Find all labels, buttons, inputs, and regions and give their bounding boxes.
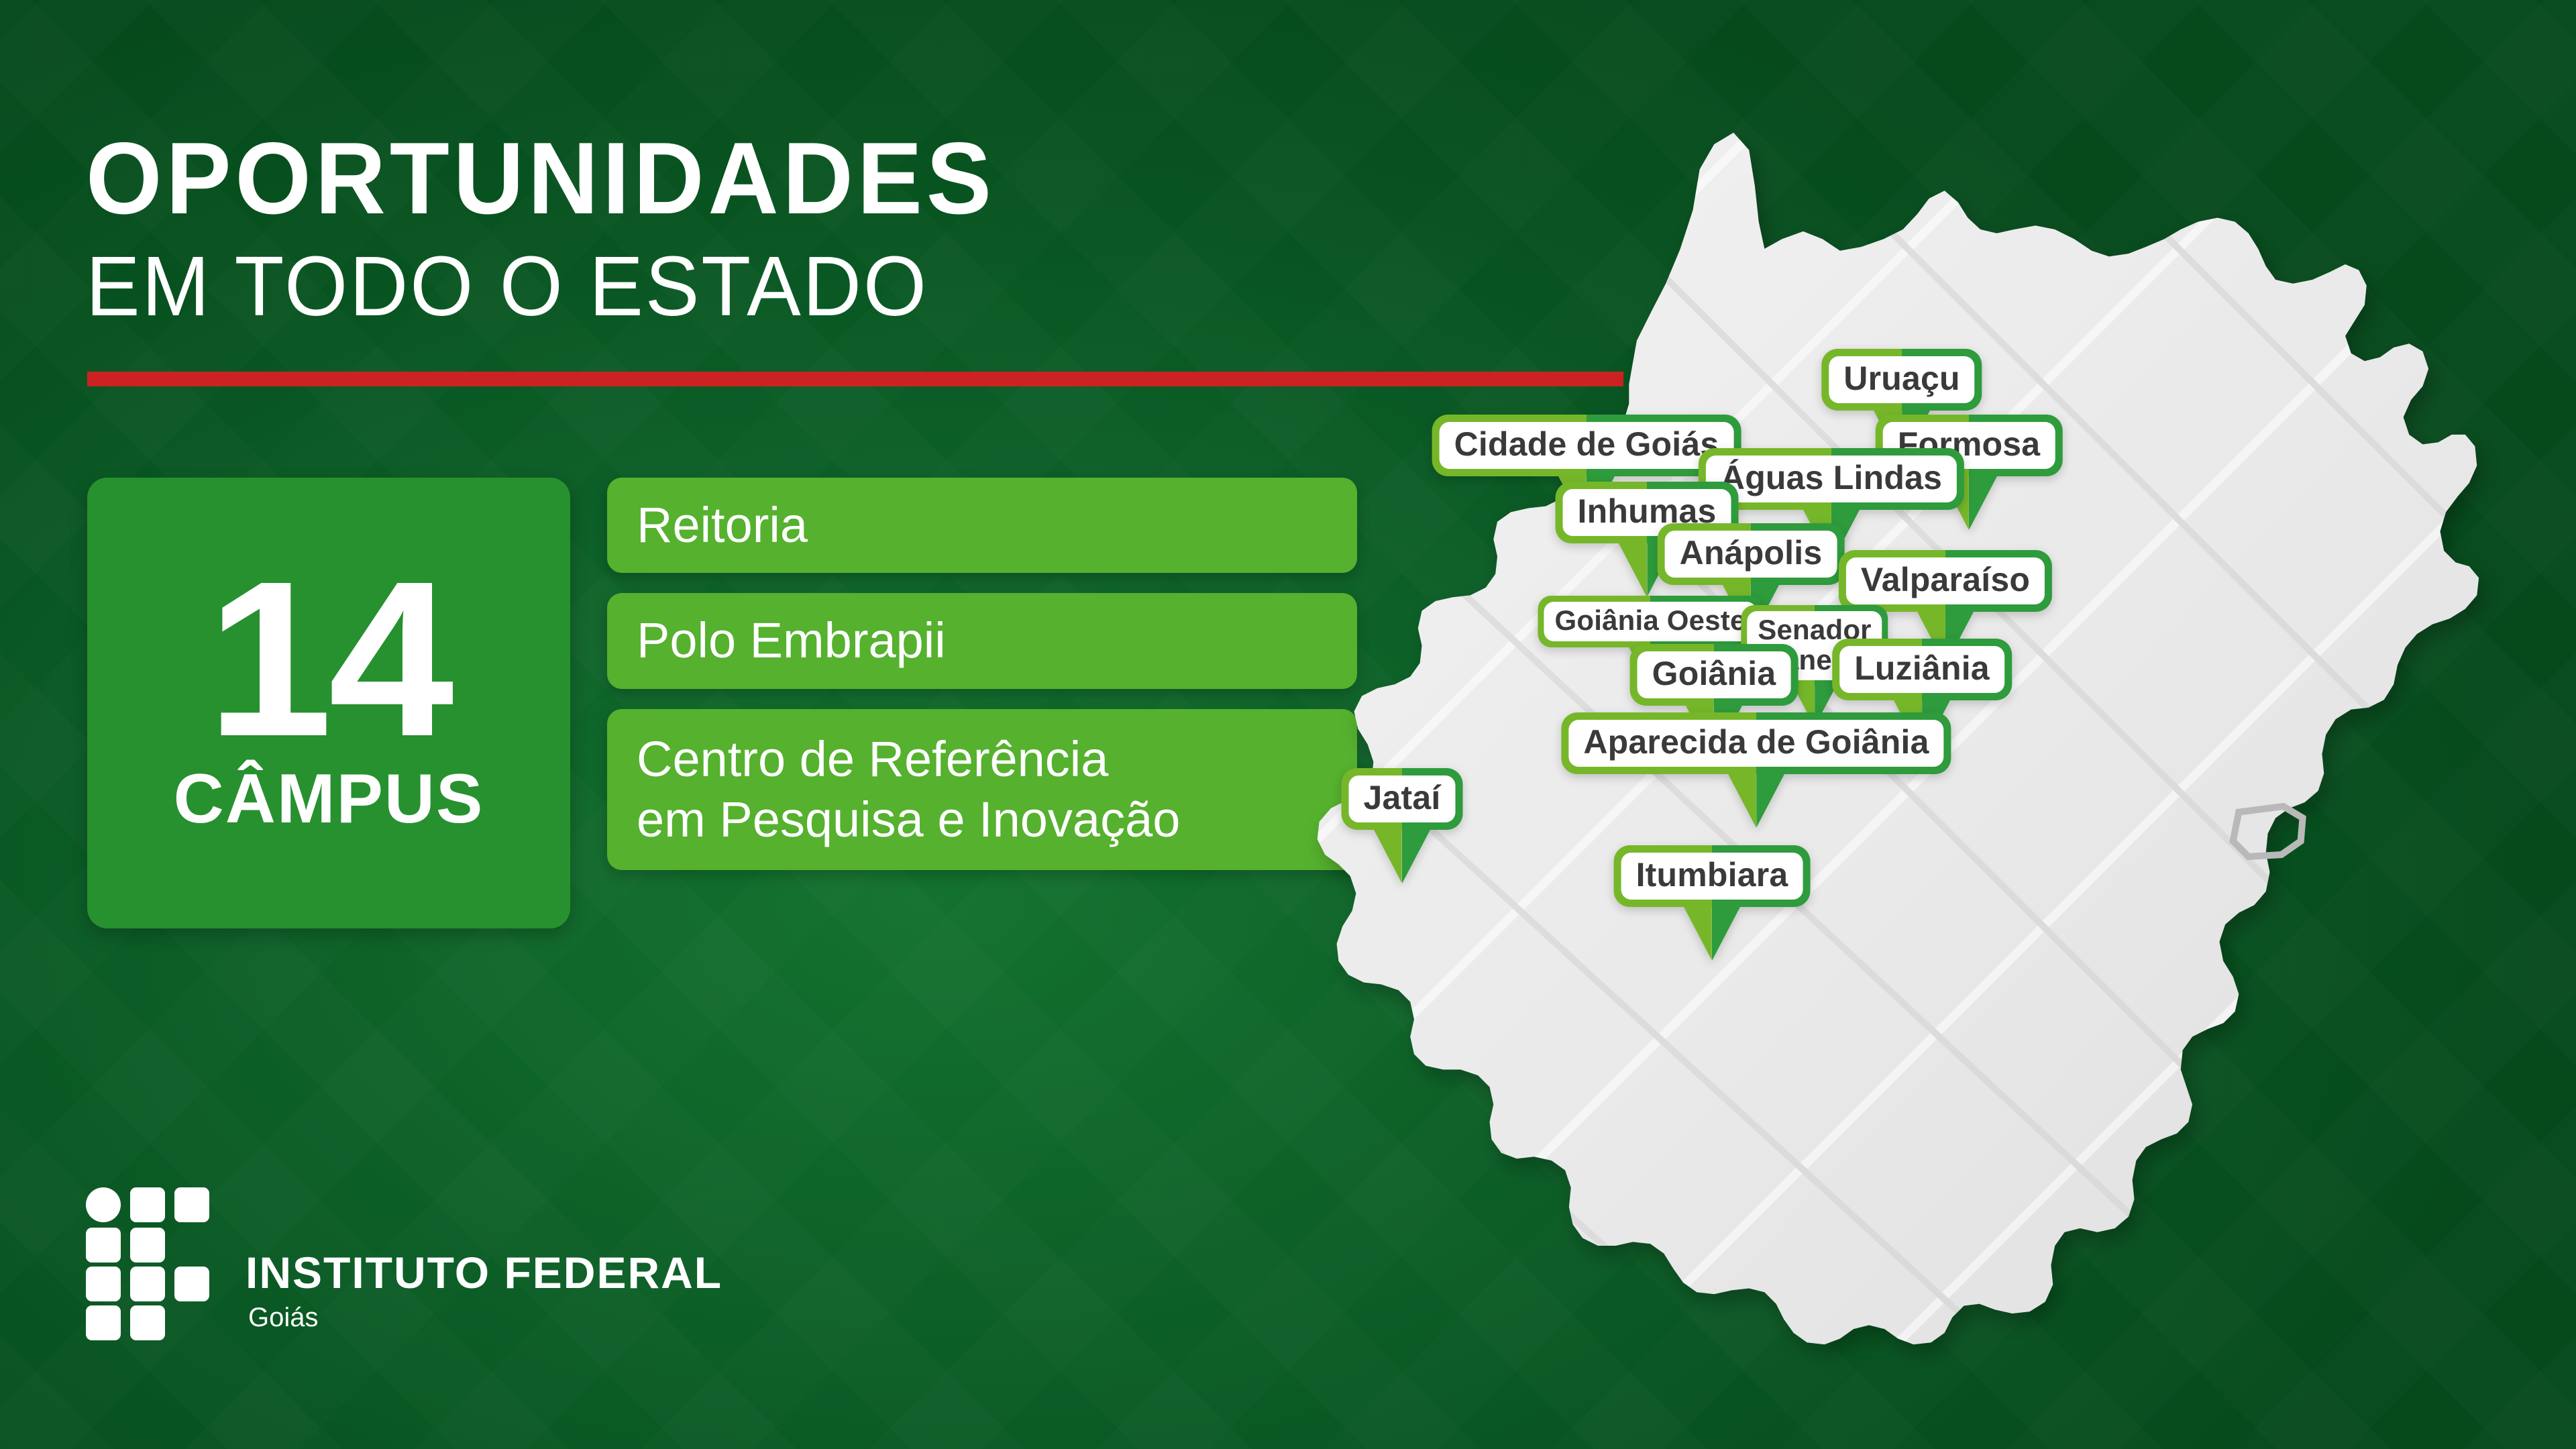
page-title: OPORTUNIDADES — [86, 127, 1309, 229]
marker-inner: Águas Lindas — [1706, 455, 1957, 502]
marker-tail-icon — [1683, 906, 1741, 961]
marker-label: Valparaíso — [1861, 562, 2030, 598]
marker-tail-icon — [1373, 828, 1431, 883]
map-marker-jatai[interactable]: Jataí — [1342, 768, 1463, 883]
marker-inner: Cidade de Goiás — [1440, 422, 1734, 469]
headline-block: OPORTUNIDADES EM TODO O ESTADO — [86, 127, 1360, 333]
marker-ring: Anápolis — [1658, 523, 1845, 585]
marker-ring: Goiânia — [1630, 644, 1799, 706]
logo-state-name: Goiás — [248, 1304, 722, 1331]
page-subtitle: EM TODO O ESTADO — [86, 239, 1309, 333]
marker-label: Aparecida de Goiânia — [1583, 724, 1929, 760]
marker-label: Cidade de Goiás — [1454, 427, 1719, 462]
marker-label: Goiânia — [1652, 656, 1776, 692]
marker-inner: Itumbiara — [1621, 853, 1803, 900]
infographic-canvas: OPORTUNIDADES EM TODO O ESTADO 14 CÂMPUS… — [0, 0, 2576, 1449]
marker-ring: Valparaíso — [1839, 550, 2052, 612]
marker-ring: Itumbiara — [1614, 845, 1811, 907]
marker-label: Águas Lindas — [1721, 460, 1942, 496]
marker-inner: Valparaíso — [1846, 557, 2045, 604]
goias-state-map: Uruaçu Cidade de Goiás Formosa — [1201, 94, 2576, 1449]
marker-label: Goiânia Oeste — [1554, 606, 1746, 636]
feature-label: Reitoria — [637, 495, 808, 555]
ifg-logo: INSTITUTO FEDERAL Goiás — [86, 1187, 722, 1336]
campus-count-number: 14 — [207, 566, 450, 751]
marker-ring: Cidade de Goiás — [1432, 415, 1741, 476]
marker-ring: Luziânia — [1832, 639, 2012, 700]
marker-label: Uruaçu — [1843, 361, 1960, 396]
marker-inner: Goiânia — [1638, 651, 1791, 698]
ifg-logo-mark-icon — [86, 1187, 217, 1336]
logo-institution-name: INSTITUTO FEDERAL — [246, 1250, 722, 1295]
ifg-logo-text: INSTITUTO FEDERAL Goiás — [246, 1250, 722, 1336]
marker-ring: Jataí — [1342, 768, 1463, 830]
marker-label: Luziânia — [1854, 651, 1990, 686]
marker-label: Anápolis — [1680, 535, 1823, 571]
feature-label-line2: em Pesquisa e Inovação — [637, 790, 1180, 850]
map-marker-itumbiara[interactable]: Itumbiara — [1614, 845, 1811, 961]
marker-ring: Aparecida de Goiânia — [1561, 712, 1951, 774]
feature-label: Polo Embrapii — [637, 610, 946, 671]
marker-ring: Uruaçu — [1821, 349, 1982, 411]
marker-inner: Anápolis — [1665, 531, 1837, 578]
marker-inner: Aparecida de Goiânia — [1568, 720, 1943, 767]
campus-count-block: 14 CÂMPUS — [87, 478, 570, 928]
feature-label-line1: Centro de Referência — [637, 729, 1180, 790]
campus-badge: 14 CÂMPUS — [87, 478, 570, 928]
marker-inner: Luziânia — [1839, 646, 2004, 693]
marker-inner: Uruaçu — [1829, 356, 1974, 403]
marker-inner: Jataí — [1349, 775, 1456, 822]
marker-inner: Goiânia Oeste — [1544, 602, 1756, 641]
map-marker-aparecida-de-goiania[interactable]: Aparecida de Goiânia — [1561, 712, 1951, 828]
marker-tail-icon — [1727, 773, 1785, 828]
marker-label: Jataí — [1364, 780, 1441, 816]
marker-ring: Goiânia Oeste — [1538, 596, 1762, 647]
marker-label: Itumbiara — [1636, 857, 1788, 893]
